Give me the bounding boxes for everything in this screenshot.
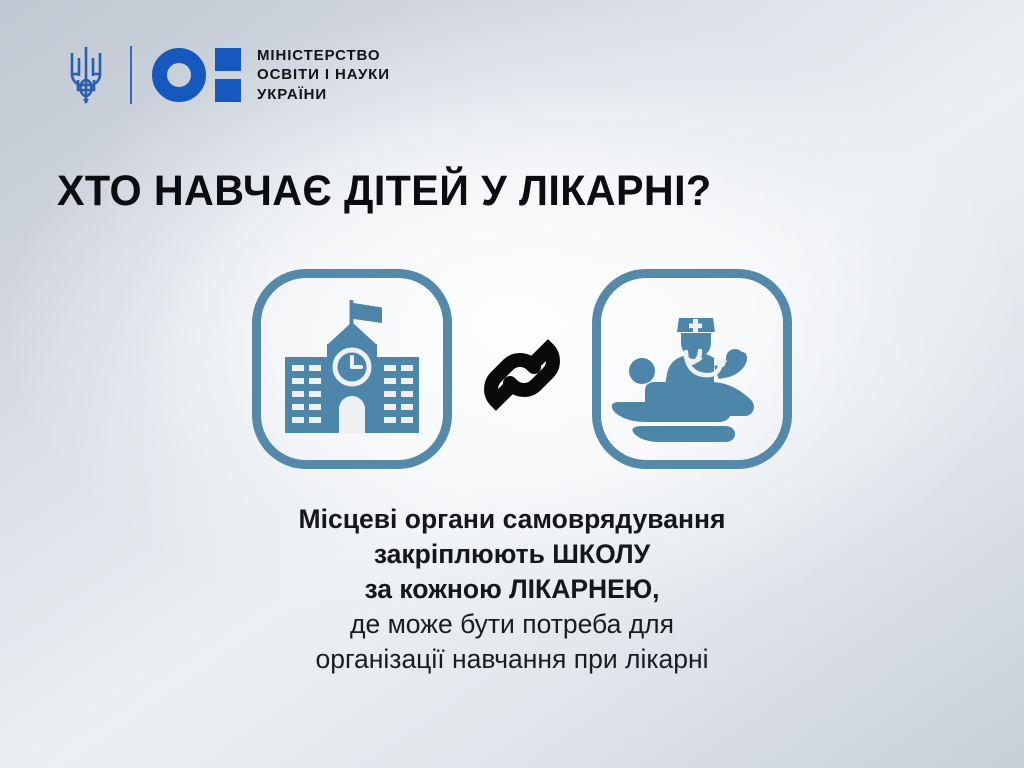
chain-link-icon [472, 325, 572, 425]
hospital-icon-card [592, 269, 792, 469]
body-line-5: організації навчання при лікарні [0, 642, 1024, 677]
slide-canvas: МІНІСТЕРСТВО ОСВІТИ І НАУКИ УКРАЇНИ ХТО … [0, 0, 1024, 768]
school-building-icon [261, 278, 443, 460]
page-title: ХТО НАВЧАЄ ДІТЕЙ У ЛІКАРНІ? [57, 167, 712, 216]
mon-bar-top [215, 48, 241, 71]
icon-row [0, 269, 1024, 474]
body-copy: Місцеві органи самоврядування закріплюют… [0, 502, 1024, 677]
body-line-1: Місцеві органи самоврядування [0, 502, 1024, 537]
hospital-patient-care-icon [601, 278, 783, 460]
mon-bar-bottom [215, 79, 241, 102]
body-line-2: закріплюють ШКОЛУ [0, 537, 1024, 572]
ministry-line-1: МІНІСТЕРСТВО [257, 46, 390, 66]
mon-logo-mark [152, 46, 241, 104]
mon-circle-glyph [152, 48, 206, 102]
logo-divider [130, 46, 132, 104]
ukraine-trident-icon [64, 44, 108, 106]
ministry-line-3: УКРАЇНИ [257, 85, 390, 105]
ministry-line-2: ОСВІТИ І НАУКИ [257, 65, 390, 85]
mon-bars-glyph [215, 48, 241, 102]
ministry-logo-bar: МІНІСТЕРСТВО ОСВІТИ І НАУКИ УКРАЇНИ [64, 42, 390, 108]
ministry-name: МІНІСТЕРСТВО ОСВІТИ І НАУКИ УКРАЇНИ [257, 46, 390, 105]
body-line-3: за кожною ЛІКАРНЕЮ, [0, 572, 1024, 607]
school-icon-card [252, 269, 452, 469]
body-line-4: де може бути потреба для [0, 607, 1024, 642]
